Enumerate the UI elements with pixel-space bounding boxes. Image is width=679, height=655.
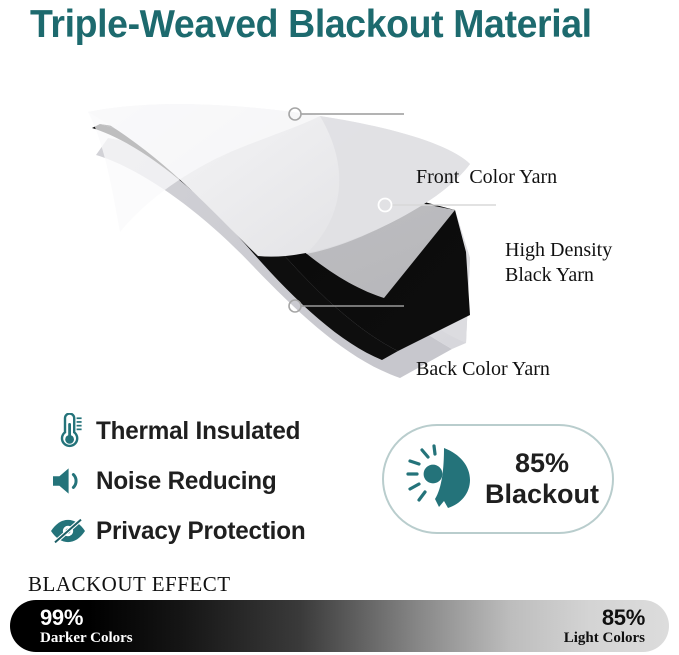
blackout-effect-light-end: 85% Light Colors — [564, 606, 645, 647]
callout-label-back: Back Color Yarn — [416, 357, 550, 382]
callout-label-high-density: High DensityBlack Yarn — [505, 238, 612, 288]
blackout-effect-bar: 99% Darker Colors 85% Light Colors — [10, 600, 669, 652]
eye-slash-icon — [48, 511, 88, 551]
blackout-badge-percent: 85% — [515, 448, 569, 478]
dark-end-label: Darker Colors — [40, 629, 133, 647]
feature-label-privacy: Privacy Protection — [96, 517, 305, 546]
callout-label-high-density-line2: Black Yarn — [505, 264, 594, 286]
feature-label-thermal: Thermal Insulated — [96, 417, 300, 446]
light-end-label: Light Colors — [564, 629, 645, 647]
speaker-icon — [48, 461, 88, 501]
light-end-percent: 85% — [564, 606, 645, 629]
sun-blocked-icon — [404, 440, 482, 518]
blackout-effect-dark-end: 99% Darker Colors — [40, 606, 133, 647]
blackout-badge-text: 85% Blackout — [482, 448, 612, 510]
infographic-page: Triple-Weaved Blackout Material — [0, 0, 679, 655]
callout-label-front: Front Color Yarn — [416, 165, 557, 190]
thermometer-icon — [48, 411, 88, 451]
feature-item-noise: Noise Reducing — [48, 458, 368, 504]
page-title: Triple-Weaved Blackout Material — [30, 2, 635, 48]
feature-item-thermal: Thermal Insulated — [48, 408, 368, 454]
feature-label-noise: Noise Reducing — [96, 467, 277, 496]
feature-list: Thermal Insulated Noise Reducing — [48, 408, 368, 558]
blackout-badge-label: Blackout — [485, 479, 599, 509]
callout-label-high-density-line1: High Density — [505, 239, 612, 261]
blackout-effect-heading: BLACKOUT EFFECT — [28, 572, 231, 597]
feature-item-privacy: Privacy Protection — [48, 508, 368, 554]
fabric-layers-diagram: Front Color Yarn High DensityBlack Yarn … — [0, 60, 679, 390]
dark-end-percent: 99% — [40, 606, 133, 629]
blackout-badge: 85% Blackout — [382, 424, 614, 534]
